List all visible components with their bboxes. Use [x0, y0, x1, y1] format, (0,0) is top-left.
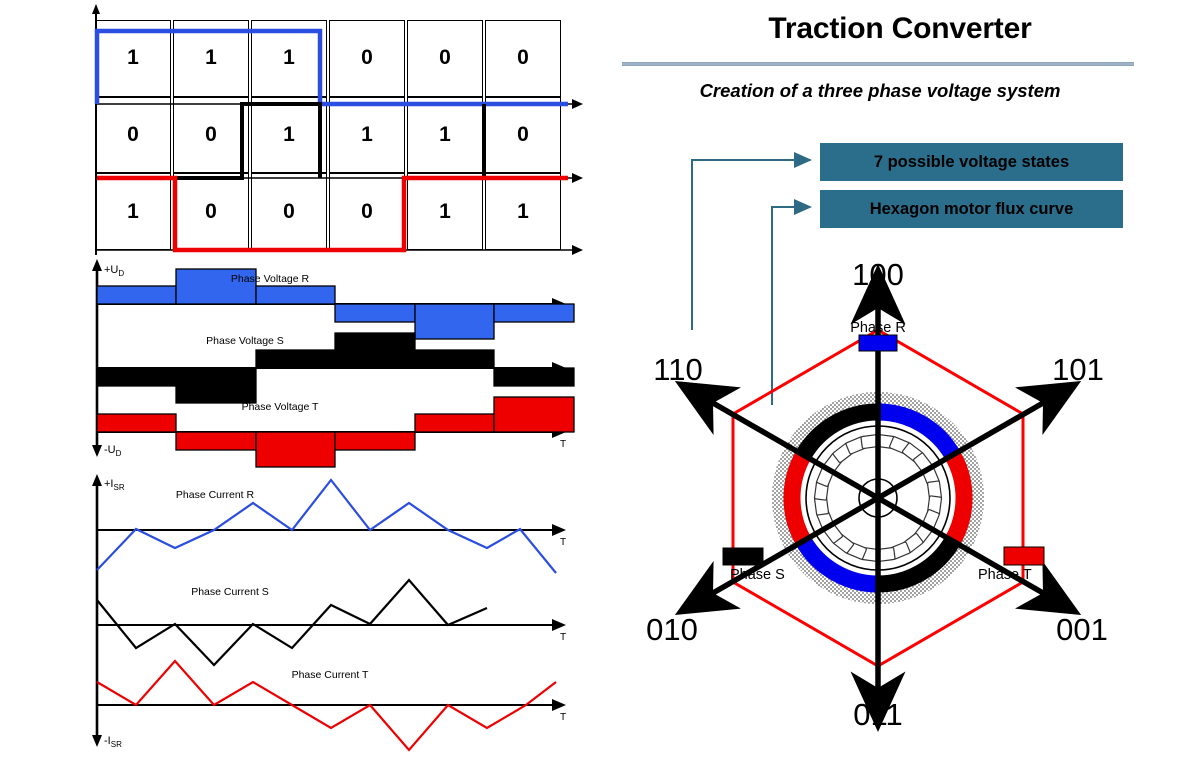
cell-t-5: 1: [407, 173, 483, 250]
waveform-svg: +UD -UD T Phase Voltage R: [0, 255, 600, 765]
cell-r-6: 0: [485, 20, 561, 97]
phase-t-marker: [1004, 547, 1044, 565]
cell-s-3: 1: [251, 97, 327, 174]
phase-current-t-label: Phase Current T: [292, 669, 369, 681]
cell-s-2: 0: [173, 97, 249, 174]
phase-t-label: Phase T: [978, 567, 1032, 583]
cell-t-4: 0: [329, 173, 405, 250]
cell-r-1: 1: [95, 20, 171, 97]
left-diagram-panel: 1 1 1 0 0 0 0 0 1 1 1 0: [0, 0, 600, 773]
cell-t-3: 0: [251, 173, 327, 250]
cell-r-4: 0: [329, 20, 405, 97]
current-r-time-label: T: [560, 537, 566, 548]
phase-voltage-r-plot: T Phase Voltage R: [97, 269, 574, 339]
cell-s-1: 0: [95, 97, 171, 174]
phase-s-label: Phase S: [730, 567, 785, 583]
cell-s-5: 1: [407, 97, 483, 174]
table-row: 1 0 0 0 1 1: [95, 173, 561, 250]
phase-current-r-label: Phase Current R: [176, 489, 255, 501]
cell-s-6: 0: [485, 97, 561, 174]
cell-t-2: 0: [173, 173, 249, 250]
voltage-axis-top-label: +UD: [104, 264, 124, 278]
current-axis-bottom-label: -ISR: [104, 735, 122, 749]
cell-t-1: 1: [95, 173, 171, 250]
hexagon-svg: Phase R Phase S Phase T 100 110 010 011 …: [620, 250, 1180, 770]
phase-current-t-plot: T Phase Current T: [97, 661, 566, 750]
current-s-time-label: T: [560, 632, 566, 643]
phase-current-s-plot: T Phase Current S: [97, 580, 566, 665]
current-trace-s: [97, 580, 487, 665]
phase-voltage-r-label: Phase Voltage R: [231, 273, 310, 285]
phase-voltage-t-label: Phase Voltage T: [242, 401, 319, 413]
phase-current-r-plot: T Phase Current R: [97, 480, 566, 573]
hexagon-flux-diagram: Phase R Phase S Phase T 100 110 010 011 …: [620, 250, 1180, 770]
vector-label-101: 101: [1052, 352, 1104, 387]
space-vectors: [713, 308, 1043, 688]
phase-s-marker: [723, 548, 763, 565]
cell-r-3: 1: [251, 20, 327, 97]
table-row: 0 0 1 1 1 0: [95, 97, 561, 174]
phase-voltage-s-label: Phase Voltage S: [206, 335, 284, 347]
current-t-time-label: T: [560, 712, 566, 723]
table-row: 1 1 1 0 0 0: [95, 20, 561, 97]
vector-label-001: 001: [1056, 612, 1108, 647]
current-vertical-axis: [92, 474, 102, 747]
switching-state-table: 1 1 1 0 0 0 0 0 1 1 1 0: [93, 20, 563, 250]
cell-r-5: 0: [407, 20, 483, 97]
cell-r-2: 1: [173, 20, 249, 97]
vector-label-010: 010: [646, 612, 698, 647]
cell-t-6: 1: [485, 173, 561, 250]
slide-root: 1 1 1 0 0 0 0 0 1 1 1 0: [0, 0, 1197, 773]
phase-voltage-t-plot: T Phase Voltage T: [97, 397, 574, 467]
vector-label-100: 100: [852, 257, 904, 292]
voltage-t-time-label: T: [560, 439, 566, 450]
current-axis-top-label: +ISR: [104, 478, 125, 492]
current-trace-r: [97, 480, 556, 573]
vector-label-011: 011: [853, 697, 902, 732]
voltage-axis-bottom-label: -UD: [104, 444, 122, 458]
phase-current-s-label: Phase Current S: [191, 586, 269, 598]
vector-label-110: 110: [653, 352, 702, 387]
phase-voltage-s-plot: T Phase Voltage S: [97, 333, 574, 403]
right-content-panel: Traction Converter Creation of a three p…: [600, 0, 1197, 773]
phase-r-marker: [859, 335, 897, 351]
phase-r-label: Phase R: [850, 320, 906, 336]
cell-s-4: 1: [329, 97, 405, 174]
waveform-plots: +UD -UD T Phase Voltage R: [0, 255, 600, 765]
switching-table: 1 1 1 0 0 0 0 0 1 1 1 0: [93, 20, 563, 250]
